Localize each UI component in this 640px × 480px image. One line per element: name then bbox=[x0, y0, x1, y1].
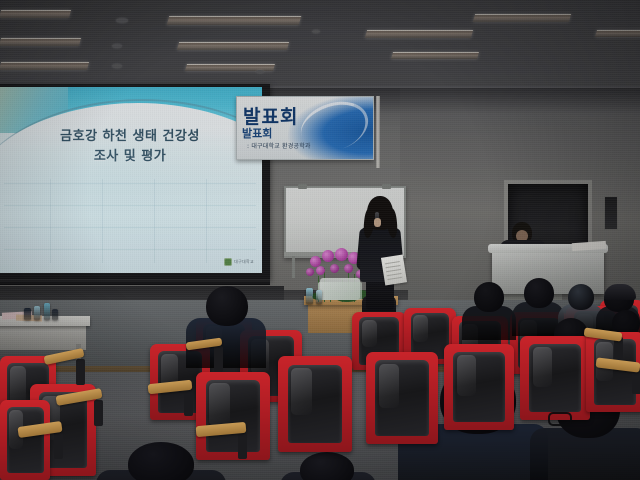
audience-member-head bbox=[568, 284, 594, 310]
seat-highlight bbox=[291, 368, 312, 414]
auditorium-seat bbox=[196, 372, 270, 460]
audience-member-head bbox=[300, 452, 354, 480]
armrest-support bbox=[238, 433, 247, 459]
auditorium-seat bbox=[444, 344, 514, 430]
seat-highlight bbox=[209, 383, 230, 425]
armrest-support bbox=[184, 390, 193, 416]
auditorium-seat bbox=[0, 400, 50, 480]
armrest-support bbox=[214, 346, 223, 372]
baseball-cap bbox=[604, 284, 636, 300]
armrest-support bbox=[76, 359, 85, 385]
auditorium-seat bbox=[366, 352, 438, 444]
seat-highlight bbox=[457, 355, 477, 396]
seat-highlight bbox=[379, 364, 399, 408]
auditorium-photo: 금호강 하천 생태 건강성 조사 및 평가 대구대학교 발표회 발표회 : 대구… bbox=[0, 0, 640, 480]
auditorium-seat bbox=[278, 356, 352, 452]
audience-member-head bbox=[524, 278, 554, 308]
eyeglasses-icon bbox=[548, 412, 572, 426]
audience-member-head bbox=[128, 442, 194, 480]
audience-member-head bbox=[206, 286, 248, 326]
seat-highlight bbox=[362, 320, 377, 348]
armrest-support bbox=[54, 433, 63, 459]
seat-highlight bbox=[413, 315, 428, 342]
audience-member-head bbox=[474, 282, 504, 312]
seat-highlight bbox=[533, 347, 553, 387]
auditorium-seat bbox=[520, 336, 590, 420]
armrest-support bbox=[94, 400, 103, 426]
